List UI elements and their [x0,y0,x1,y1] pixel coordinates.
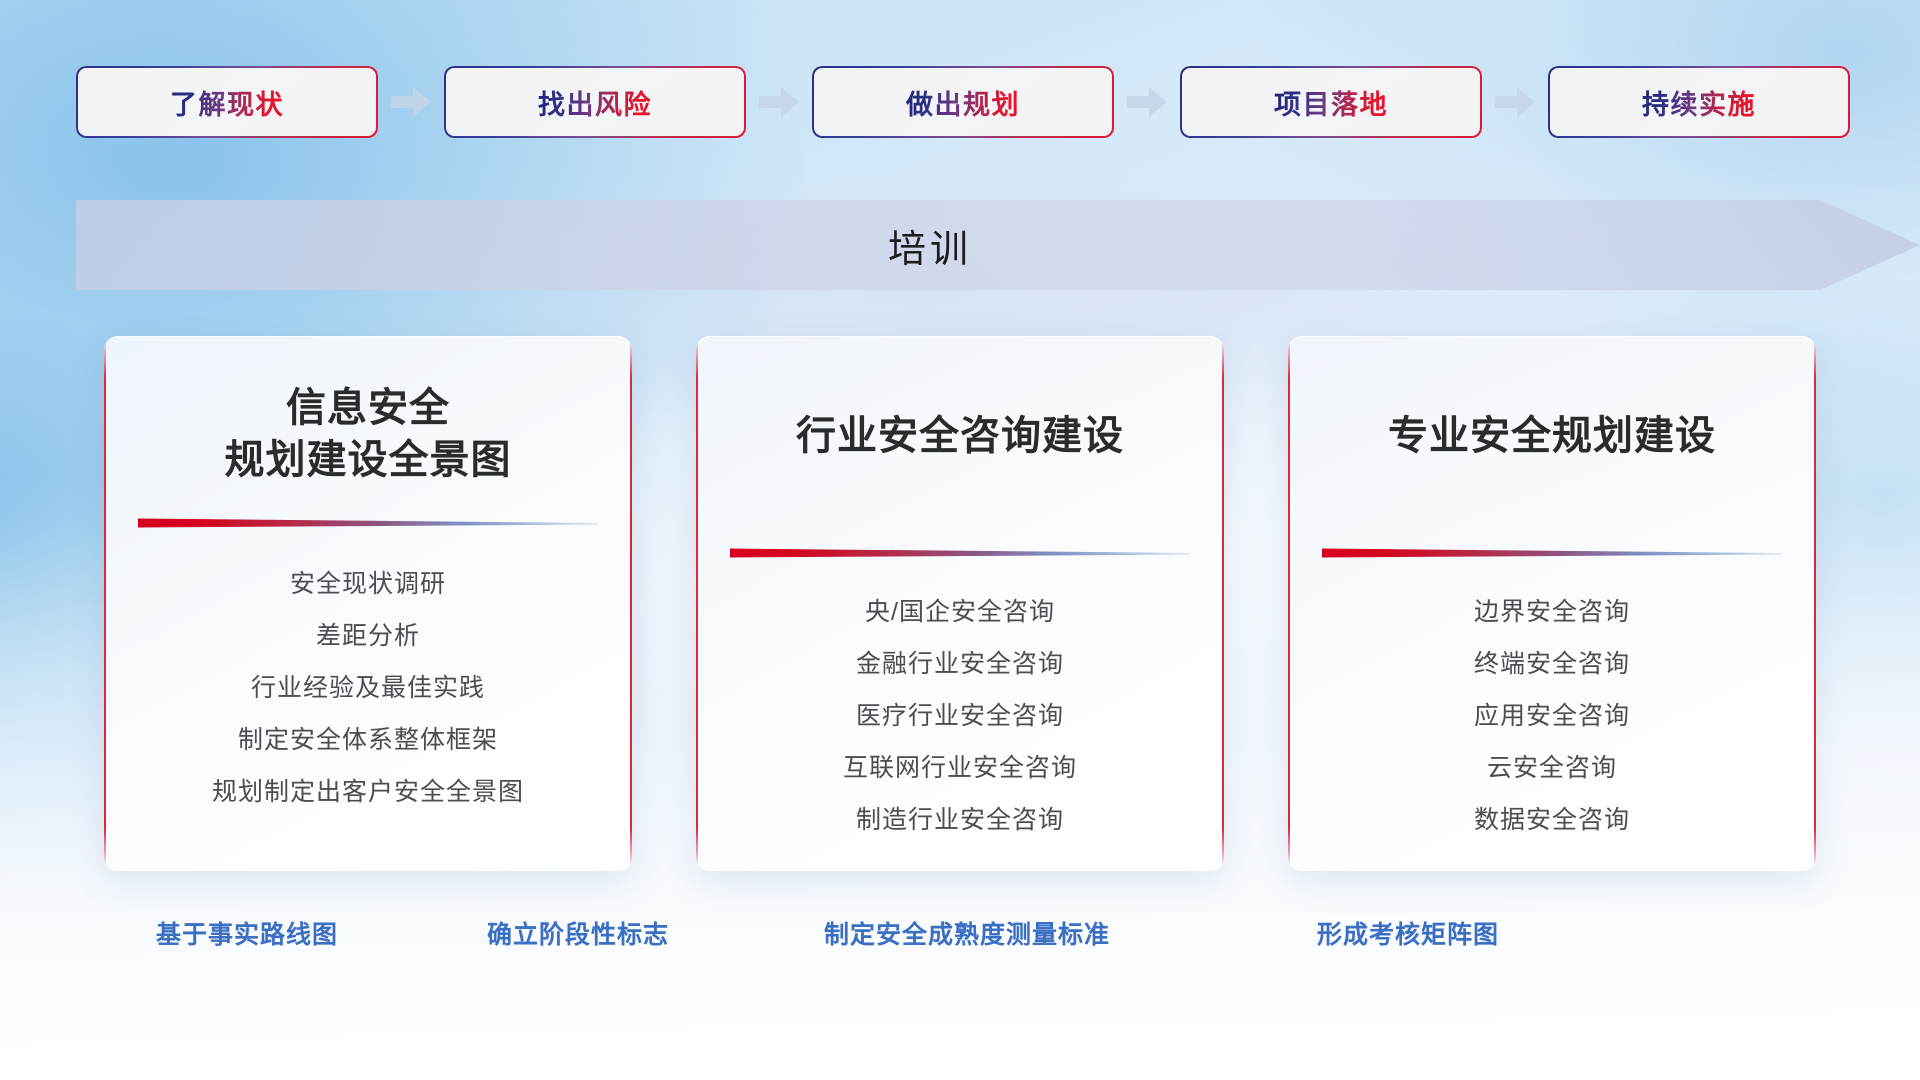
card-title: 专业安全规划建设 [1288,410,1816,462]
card-title-line: 规划建设全景图 [104,434,632,486]
card-list-item: 终端安全咨询 [1474,652,1630,677]
outcome-label-4: 形成考核矩阵图 [1317,915,1499,951]
card-title: 行业安全咨询建设 [696,410,1224,462]
card-title-line: 行业安全咨询建设 [696,410,1224,462]
card-list-item: 制造行业安全咨询 [856,808,1064,833]
step-arrow-1 [378,66,444,138]
card-list-item: 医疗行业安全咨询 [856,704,1064,729]
card-list-item: 互联网行业安全咨询 [843,756,1077,781]
outcome-label-3: 制定安全成熟度测量标准 [824,915,1110,951]
step-label-5: 持续实施 [1642,83,1756,122]
card-list-item: 云安全咨询 [1487,756,1617,781]
card-list-item: 央/国企安全咨询 [865,600,1055,625]
step-label-1: 了解现状 [170,83,284,122]
step-box-4[interactable]: 项目落地 [1180,66,1482,138]
card-item-list: 边界安全咨询 终端安全咨询 应用安全咨询 云安全咨询 数据安全咨询 [1288,600,1816,833]
card-divider [730,546,1190,560]
step-box-1[interactable]: 了解现状 [76,66,378,138]
step-arrow-2 [746,66,812,138]
card-list-item: 制定安全体系整体框架 [238,728,498,753]
card-title-line: 专业安全规划建设 [1288,410,1816,462]
step-label-4: 项目落地 [1274,83,1388,122]
process-step-row: 了解现状 找出风险 做出规划 项目落地 持续实施 [0,66,1920,138]
outcome-label-row: 基于事实路线图 确立阶段性标志 制定安全成熟度测量标准 形成考核矩阵图 [0,915,1920,963]
card-list-item: 行业经验及最佳实践 [251,676,485,701]
card-item-list: 安全现状调研 差距分析 行业经验及最佳实践 制定安全体系整体框架 规划制定出客户… [104,572,632,805]
card-list-item: 规划制定出客户安全全景图 [212,780,524,805]
card-title-line: 信息安全 [104,382,632,434]
card-list-item: 安全现状调研 [290,572,446,597]
card-list-item: 边界安全咨询 [1474,600,1630,625]
card-divider [138,516,598,530]
card-divider [1322,546,1782,560]
card-list-item: 应用安全咨询 [1474,704,1630,729]
card-professional-security-planning[interactable]: 专业安全规划建设 [1288,336,1816,871]
card-list-item: 金融行业安全咨询 [856,652,1064,677]
step-box-3[interactable]: 做出规划 [812,66,1114,138]
card-title: 信息安全 规划建设全景图 [104,382,632,486]
step-label-3: 做出规划 [906,83,1020,122]
training-banner-label-wrap: 培训 [0,200,1860,290]
step-arrow-4 [1482,66,1548,138]
training-banner-label: 培训 [888,218,972,273]
capability-card-row: 信息安全 规划建设全景图 [0,336,1920,876]
card-list-item: 数据安全咨询 [1474,808,1630,833]
card-list-item: 差距分析 [316,624,420,649]
outcome-label-2: 确立阶段性标志 [487,915,669,951]
step-box-5[interactable]: 持续实施 [1548,66,1850,138]
step-box-2[interactable]: 找出风险 [444,66,746,138]
outcome-label-1: 基于事实路线图 [156,915,338,951]
card-industry-security-consulting[interactable]: 行业安全咨询建设 [696,336,1224,871]
step-arrow-3 [1114,66,1180,138]
card-information-security-blueprint[interactable]: 信息安全 规划建设全景图 [104,336,632,871]
card-item-list: 央/国企安全咨询 金融行业安全咨询 医疗行业安全咨询 互联网行业安全咨询 制造行… [696,600,1224,833]
step-label-2: 找出风险 [538,83,652,122]
